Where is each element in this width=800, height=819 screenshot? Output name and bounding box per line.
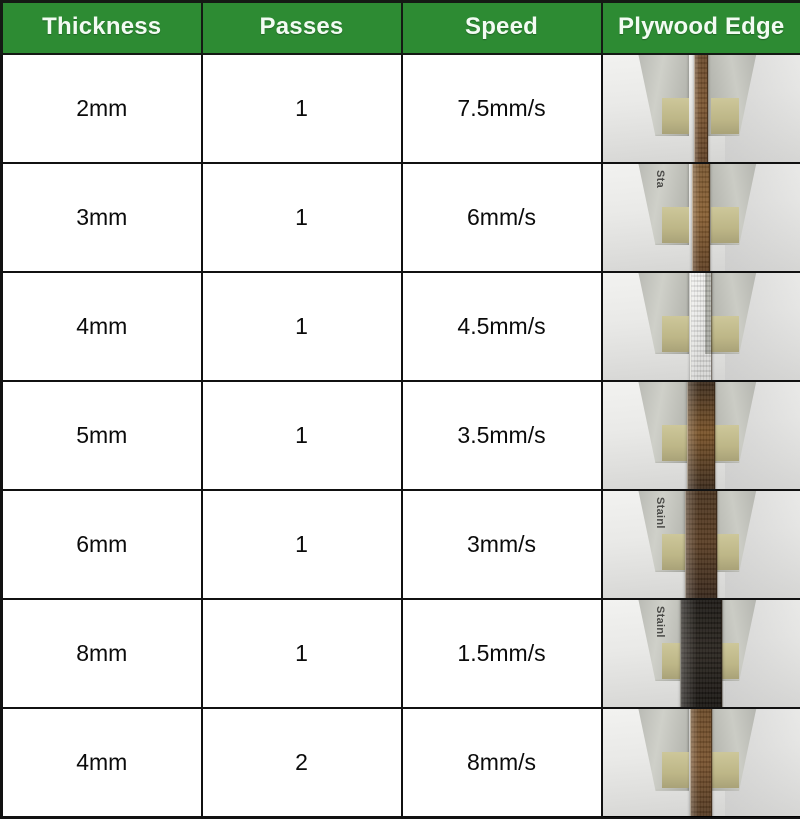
plywood-strip bbox=[687, 382, 715, 489]
cell-passes: 1 bbox=[202, 490, 402, 599]
table-row: 4mm28mm/s bbox=[2, 708, 800, 818]
plywood-strip bbox=[692, 164, 710, 271]
plywood-edge-image: Sta bbox=[603, 164, 800, 271]
plywood-highlight bbox=[691, 709, 699, 816]
caliper-face-left bbox=[662, 752, 690, 788]
cell-thickness: 6mm bbox=[2, 490, 202, 599]
cell-plywood-edge-photo: Stainl bbox=[602, 490, 800, 599]
plywood-edge-image: Stainl bbox=[603, 491, 800, 598]
table-row: 5mm13.5mm/s bbox=[2, 381, 800, 490]
plywood-edge-image bbox=[603, 382, 800, 489]
cell-speed: 8mm/s bbox=[402, 708, 602, 818]
table-row: 2mm17.5mm/s bbox=[2, 54, 800, 163]
table-row: 8mm11.5mm/sStainl bbox=[2, 599, 800, 708]
cell-thickness: 8mm bbox=[2, 599, 202, 708]
column-header-passes: Passes bbox=[202, 2, 402, 55]
cell-passes: 1 bbox=[202, 163, 402, 272]
cell-passes: 1 bbox=[202, 381, 402, 490]
cell-plywood-edge-photo bbox=[602, 708, 800, 818]
cell-thickness: 2mm bbox=[2, 54, 202, 163]
caliper-face-left bbox=[662, 98, 690, 134]
plywood-strip bbox=[690, 273, 712, 380]
plywood-strip bbox=[694, 55, 708, 162]
caliper-face-right bbox=[711, 98, 739, 134]
cutting-parameters-table: Thickness Passes Speed Plywood Edge 2mm1… bbox=[0, 0, 800, 819]
plywood-edge-image bbox=[603, 709, 800, 816]
cell-plywood-edge-photo: Sta bbox=[602, 163, 800, 272]
cell-speed: 7.5mm/s bbox=[402, 54, 602, 163]
cell-plywood-edge-photo bbox=[602, 54, 800, 163]
cell-plywood-edge-photo bbox=[602, 272, 800, 381]
plywood-highlight bbox=[686, 491, 698, 598]
cell-plywood-edge-photo: Stainl bbox=[602, 599, 800, 708]
cell-plywood-edge-photo bbox=[602, 381, 800, 490]
cell-passes: 1 bbox=[202, 54, 402, 163]
cell-speed: 3.5mm/s bbox=[402, 381, 602, 490]
plywood-highlight bbox=[688, 382, 698, 489]
plywood-highlight bbox=[691, 273, 699, 380]
plywood-highlight bbox=[682, 600, 698, 707]
cell-passes: 1 bbox=[202, 599, 402, 708]
caliper-face-right bbox=[711, 207, 739, 243]
table-row: 3mm16mm/sSta bbox=[2, 163, 800, 272]
caliper-face-left bbox=[662, 425, 690, 461]
plywood-edge-image bbox=[603, 55, 800, 162]
plywood-highlight bbox=[695, 55, 700, 162]
column-header-thickness: Thickness bbox=[2, 2, 202, 55]
plywood-edge-image bbox=[603, 273, 800, 380]
table-row: 6mm13mm/sStainl bbox=[2, 490, 800, 599]
plywood-strip bbox=[690, 709, 712, 816]
caliper-marking-text: Sta bbox=[654, 170, 666, 188]
cell-thickness: 4mm bbox=[2, 272, 202, 381]
cell-thickness: 3mm bbox=[2, 163, 202, 272]
plywood-strip bbox=[681, 600, 723, 707]
caliper-face-left bbox=[662, 316, 690, 352]
caliper-face-left bbox=[662, 207, 690, 243]
cell-passes: 1 bbox=[202, 272, 402, 381]
cell-passes: 2 bbox=[202, 708, 402, 818]
cell-speed: 4.5mm/s bbox=[402, 272, 602, 381]
table-header-row: Thickness Passes Speed Plywood Edge bbox=[2, 2, 800, 55]
plywood-highlight bbox=[693, 164, 699, 271]
column-header-plywood-edge: Plywood Edge bbox=[602, 2, 800, 55]
column-header-speed: Speed bbox=[402, 2, 602, 55]
plywood-strip bbox=[685, 491, 717, 598]
caliper-face-right bbox=[711, 752, 739, 788]
caliper-face-right bbox=[711, 316, 739, 352]
table-row: 4mm14.5mm/s bbox=[2, 272, 800, 381]
caliper-face-right bbox=[711, 425, 739, 461]
plywood-edge-image: Stainl bbox=[603, 600, 800, 707]
caliper-marking-text: Stainl bbox=[654, 497, 666, 529]
cell-thickness: 5mm bbox=[2, 381, 202, 490]
table-body: 2mm17.5mm/s3mm16mm/sSta4mm14.5mm/s5mm13.… bbox=[2, 54, 800, 818]
cell-speed: 1.5mm/s bbox=[402, 599, 602, 708]
cell-speed: 3mm/s bbox=[402, 490, 602, 599]
caliper-marking-text: Stainl bbox=[654, 606, 666, 638]
cell-speed: 6mm/s bbox=[402, 163, 602, 272]
cell-thickness: 4mm bbox=[2, 708, 202, 818]
